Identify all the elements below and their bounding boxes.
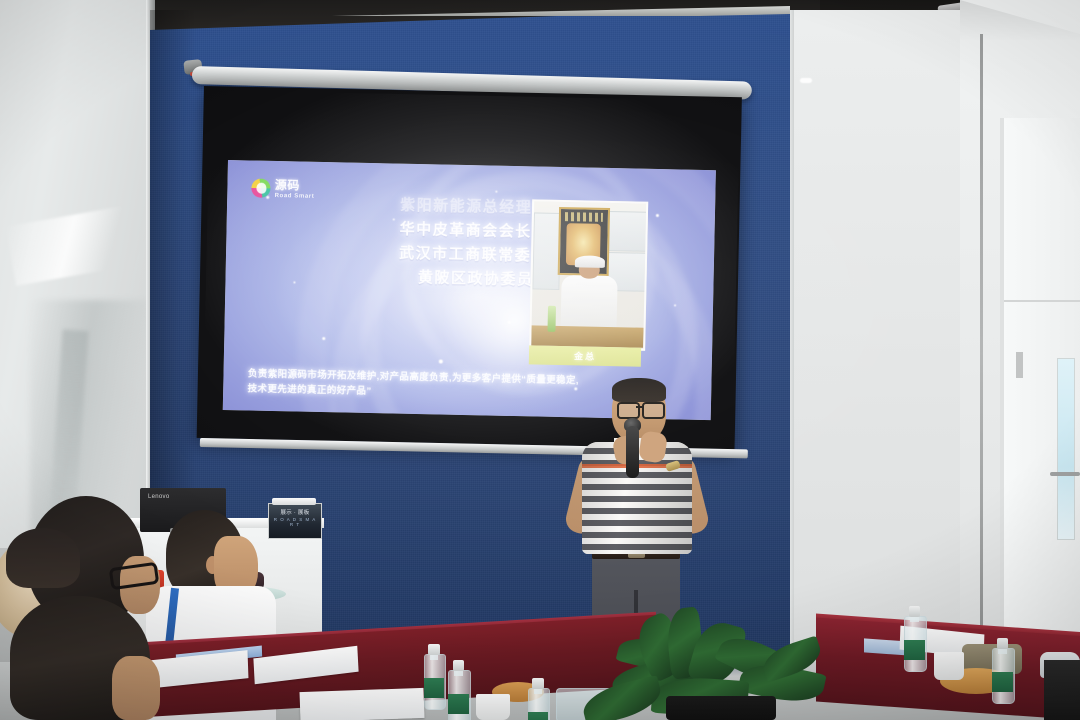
bottle-cap bbox=[909, 606, 921, 617]
microphone-icon bbox=[626, 426, 639, 478]
door-glass-panel bbox=[1057, 358, 1075, 540]
bottle-cap bbox=[428, 644, 439, 655]
sign-card-subtitle: R O A D S M A R T bbox=[272, 517, 318, 527]
logo-text: 源码 Road Smart bbox=[275, 178, 315, 199]
glasses-icon bbox=[642, 402, 665, 419]
attendee-hair bbox=[6, 528, 80, 588]
wall-highlight bbox=[800, 78, 812, 83]
photo-bottle bbox=[547, 306, 555, 332]
slide-headline: 华中皮革商会会长 bbox=[399, 218, 531, 242]
door-panel-line bbox=[1004, 300, 1080, 302]
photo-cabinet bbox=[532, 213, 560, 291]
monitor-brand-label: Lenovo bbox=[148, 494, 184, 501]
bottle-cap bbox=[453, 660, 465, 671]
road-smart-logo-icon bbox=[252, 179, 271, 198]
sign-card-title: 展示 · 展板 bbox=[274, 508, 316, 516]
water-bottle bbox=[904, 606, 925, 674]
bottle-label bbox=[992, 672, 1013, 692]
bottle-cap bbox=[997, 638, 1009, 649]
slide-headline: 黄陂区政协委员 bbox=[418, 266, 534, 289]
glasses-icon bbox=[617, 402, 640, 419]
attendee-face bbox=[112, 656, 160, 720]
door-handle[interactable] bbox=[1050, 472, 1080, 476]
photo-cabinet bbox=[605, 211, 648, 252]
slide-portrait-photo bbox=[529, 199, 648, 350]
plant-pot bbox=[666, 696, 776, 720]
slide-star bbox=[439, 359, 443, 363]
slide-headline: 武汉市工商联常委 bbox=[399, 242, 531, 266]
sign-card-top-strip bbox=[272, 498, 316, 505]
slide-star bbox=[674, 304, 676, 306]
glasses-bridge bbox=[636, 406, 642, 408]
bottle-label bbox=[528, 712, 548, 720]
bottle-label bbox=[904, 640, 925, 660]
paper-cup bbox=[476, 694, 510, 720]
paper-cup bbox=[934, 652, 964, 680]
potted-plant bbox=[612, 604, 842, 720]
door-hinge bbox=[1016, 352, 1023, 378]
slide-headline: 紫阳新能源总经理 bbox=[400, 194, 532, 218]
water-bottle bbox=[528, 678, 548, 720]
photo-person-body bbox=[561, 275, 618, 328]
slide-photo-caption-text: 金总 bbox=[574, 349, 596, 362]
slide-logo: 源码 Road Smart bbox=[252, 178, 315, 199]
slide-star bbox=[322, 337, 325, 340]
presenter-hair bbox=[612, 378, 666, 402]
bottle-label bbox=[448, 694, 469, 714]
logo-chinese-name: 源码 bbox=[275, 178, 315, 191]
water-bottle bbox=[448, 660, 469, 720]
dark-box bbox=[1044, 660, 1080, 720]
water-bottle bbox=[992, 638, 1013, 702]
bottle-cap bbox=[532, 678, 543, 689]
logo-english-name: Road Smart bbox=[275, 192, 315, 199]
slide-photo-caption-band: 金总 bbox=[529, 345, 642, 366]
document-sheet bbox=[300, 688, 425, 720]
photo-banner-text bbox=[565, 213, 603, 223]
wall-corner bbox=[980, 34, 983, 674]
conference-room-photo: 源码 Road Smart 紫阳新能源总经理 华中皮革商会会长 武汉市工商联常委… bbox=[0, 0, 1080, 720]
bottle-label bbox=[424, 678, 444, 698]
photo-person-cap bbox=[574, 255, 605, 267]
water-bottle bbox=[424, 644, 444, 712]
